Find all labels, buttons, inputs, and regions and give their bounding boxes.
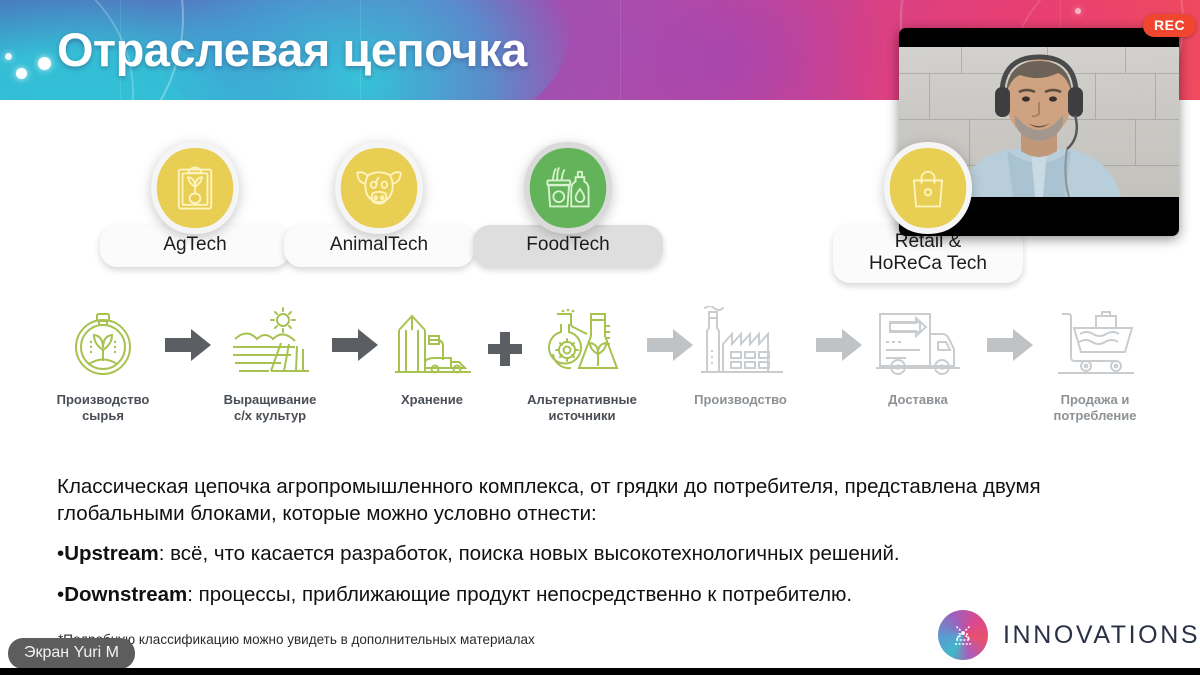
- bullet-term: Upstream: [64, 542, 159, 565]
- bullet-upstream: •Upstream: всё, что касается разработок,…: [57, 541, 1152, 568]
- logo-wordmark: INNOVATIONS: [1003, 621, 1200, 650]
- label-line-2: потребление: [1030, 408, 1160, 424]
- dot-decoration: [38, 57, 51, 70]
- chain-step-icon: [38, 305, 168, 383]
- violet-blob-decoration: [560, 0, 890, 100]
- chain-step-storage[interactable]: Хранение: [372, 305, 492, 408]
- recording-badge: REC: [1143, 14, 1196, 37]
- delivery-truck-icon: [872, 306, 964, 382]
- slide-body-text: Классическая цепочка агропромышленного к…: [57, 474, 1152, 608]
- shop-bag-icon: [902, 162, 954, 214]
- food-packaging-icon: [542, 162, 594, 214]
- label-line-2: с/х культур: [205, 408, 335, 424]
- label-line-1: Продажа и: [1030, 392, 1160, 408]
- chain-step-sale-consumption[interactable]: Продажа и потребление: [1030, 305, 1160, 424]
- label-line-1: Доставка: [858, 392, 978, 408]
- chain-step-label: Продажа и потребление: [1030, 392, 1160, 424]
- dot-decoration: [16, 68, 27, 79]
- field-sun-icon: [227, 306, 313, 382]
- chain-step-icon: [1030, 305, 1160, 383]
- value-chain-row: Производство сырья: [0, 305, 1200, 455]
- chain-step-icon: [372, 305, 492, 383]
- bullet-text: : всё, что касается разработок, поиска н…: [159, 542, 900, 565]
- chain-step-icon: [205, 305, 335, 383]
- chain-step-alternative-sources[interactable]: Альтернативные источники: [512, 305, 652, 424]
- chain-step-label: Производство: [678, 392, 803, 408]
- chain-step-label: Альтернативные источники: [512, 392, 652, 424]
- bullet-text: : процессы, приближающие продукт непосре…: [187, 583, 852, 606]
- slide-title: Отраслевая цепочка: [57, 15, 527, 85]
- chain-step-delivery[interactable]: Доставка: [858, 305, 978, 408]
- bullet-downstream: •Downstream: процессы, приближающие прод…: [57, 582, 1152, 609]
- windmill-glyph: [948, 620, 978, 650]
- category-badge: [520, 140, 616, 236]
- chain-step-crop-growing[interactable]: Выращивание с/х культур: [205, 305, 335, 424]
- screen-share-label: Экран Yuri M: [8, 638, 135, 669]
- chain-step-icon: [858, 305, 978, 383]
- clipboard-plant-icon: [169, 162, 221, 214]
- innovations-logo: INNOVATIONS: [938, 610, 1200, 660]
- chain-step-label: Доставка: [858, 392, 978, 408]
- dot-decoration: [1075, 8, 1081, 14]
- body-paragraph: Классическая цепочка агропромышленного к…: [57, 474, 1152, 527]
- label-line-1: Производство: [38, 392, 168, 408]
- factory-icon: [695, 306, 787, 382]
- cow-head-icon: [353, 162, 405, 214]
- label-line-2: источники: [512, 408, 652, 424]
- category-badge: [331, 140, 427, 236]
- windmill-icon: [938, 610, 988, 660]
- category-badge: [880, 140, 976, 236]
- bullet-term: Downstream: [64, 583, 187, 606]
- dot-decoration: [5, 53, 12, 60]
- label-line-1: Хранение: [372, 392, 492, 408]
- flask-gear-leaf-icon: [539, 306, 625, 382]
- paragraph-line-2: глобальными блоками, которые можно услов…: [57, 502, 597, 525]
- chain-step-icon: [512, 305, 652, 383]
- label-line-2: сырья: [38, 408, 168, 424]
- silo-truck-icon: [389, 306, 475, 382]
- chain-step-raw-production[interactable]: Производство сырья: [38, 305, 168, 424]
- chain-step-label: Выращивание с/х культур: [205, 392, 335, 424]
- category-label-line2: HoReCa Tech: [837, 253, 1019, 275]
- chain-step-label: Хранение: [372, 392, 492, 408]
- chain-step-icon: [678, 305, 803, 383]
- label-line-1: Выращивание: [205, 392, 335, 408]
- paragraph-line-1: Классическая цепочка агропромышленного к…: [57, 475, 1041, 498]
- shopping-cart-icon: [1052, 306, 1138, 382]
- chain-step-manufacturing[interactable]: Производство: [678, 305, 803, 408]
- category-badge: [147, 140, 243, 236]
- presentation-slide: Отраслевая цепочка AgTech: [0, 0, 1200, 675]
- chain-step-label: Производство сырья: [38, 392, 168, 424]
- bottom-letterbox-bar: [0, 668, 1200, 675]
- seed-compass-icon: [65, 306, 141, 382]
- label-line-1: Альтернативные: [512, 392, 652, 408]
- label-line-1: Производство: [678, 392, 803, 408]
- grid-line: [620, 0, 621, 100]
